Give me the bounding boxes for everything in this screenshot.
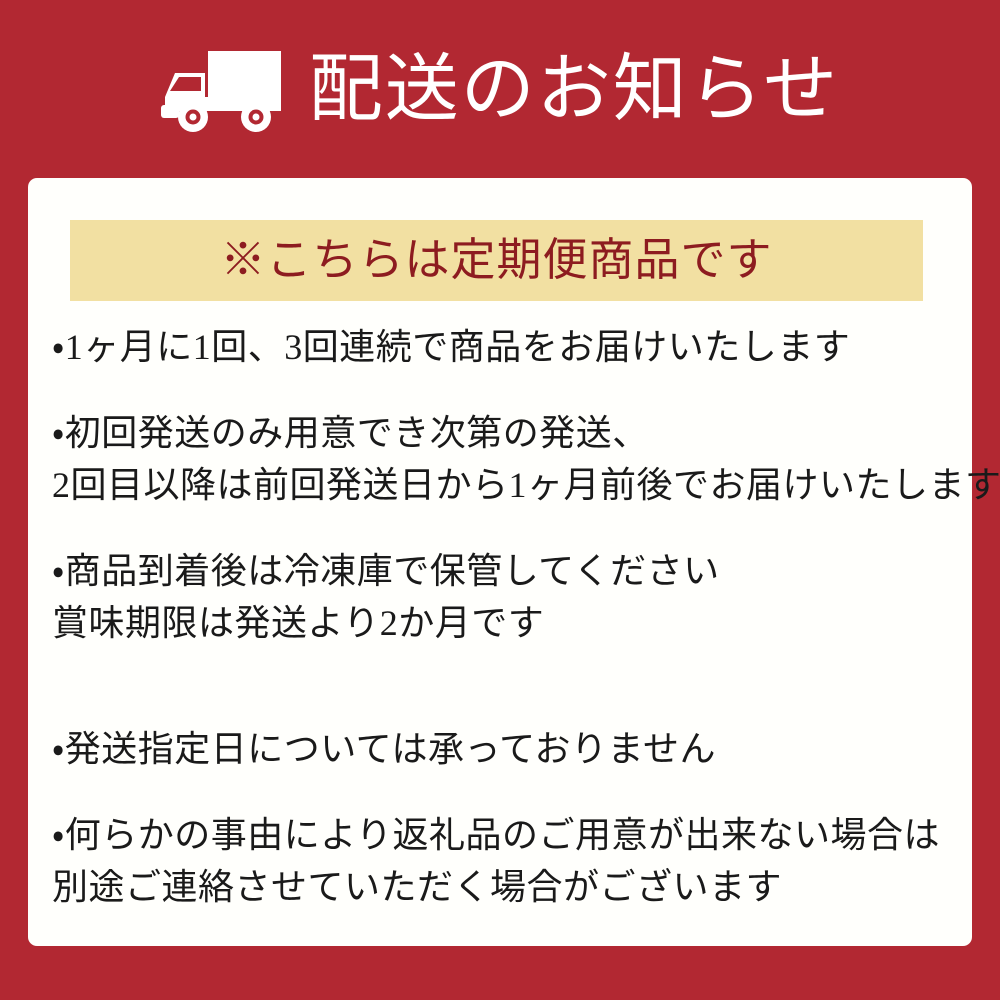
- notice-line: ・何らかの事由により返礼品のご用意が出来ない場合は: [52, 809, 952, 861]
- notice-line: 別途ご連絡させていただく場合がございます: [52, 861, 952, 913]
- notice-list: ・1ヶ月に1回、3回連続で商品をお届けいたします・初回発送のみ用意でき次第の発送…: [52, 321, 952, 947]
- notice-card: ※こちらは定期便商品です ・1ヶ月に1回、3回連続で商品をお届けいたします・初回…: [28, 178, 972, 946]
- page-title: 配送のお知らせ: [309, 53, 840, 127]
- notice-block-unavailable-notice: ・何らかの事由により返礼品のご用意が出来ない場合は別途ご連絡させていただく場合が…: [52, 809, 952, 913]
- notice-block-storage-instructions: ・商品到着後は冷凍庫で保管してください賞味期限は発送より2か月です: [52, 545, 952, 649]
- notice-line: ・初回発送のみ用意でき次第の発送、: [52, 407, 952, 459]
- subscription-highlight-text: ※こちらは定期便商品です: [220, 238, 772, 283]
- shipping-notice-poster: 配送のお知らせ ※こちらは定期便商品です ・1ヶ月に1回、3回連続で商品をお届け…: [0, 0, 1000, 1000]
- notice-block-delivery-frequency: ・1ヶ月に1回、3回連続で商品をお届けいたします: [52, 321, 952, 373]
- delivery-truck-icon: [161, 49, 283, 135]
- notice-block-no-date-designation: ・発送指定日については承っておりません: [52, 723, 952, 775]
- notice-line: ・商品到着後は冷凍庫で保管してください: [52, 545, 952, 597]
- notice-line: 賞味期限は発送より2か月です: [52, 597, 952, 649]
- subscription-highlight-banner: ※こちらは定期便商品です: [70, 220, 923, 301]
- notice-block-shipping-schedule: ・初回発送のみ用意でき次第の発送、2回目以降は前回発送日から1ヶ月前後でお届けい…: [52, 407, 952, 511]
- notice-line: 2回目以降は前回発送日から1ヶ月前後でお届けいたします: [52, 459, 952, 511]
- notice-line: ・1ヶ月に1回、3回連続で商品をお届けいたします: [52, 321, 952, 373]
- notice-line: ・発送指定日については承っておりません: [52, 723, 952, 775]
- poster-header: 配送のお知らせ: [0, 0, 1000, 178]
